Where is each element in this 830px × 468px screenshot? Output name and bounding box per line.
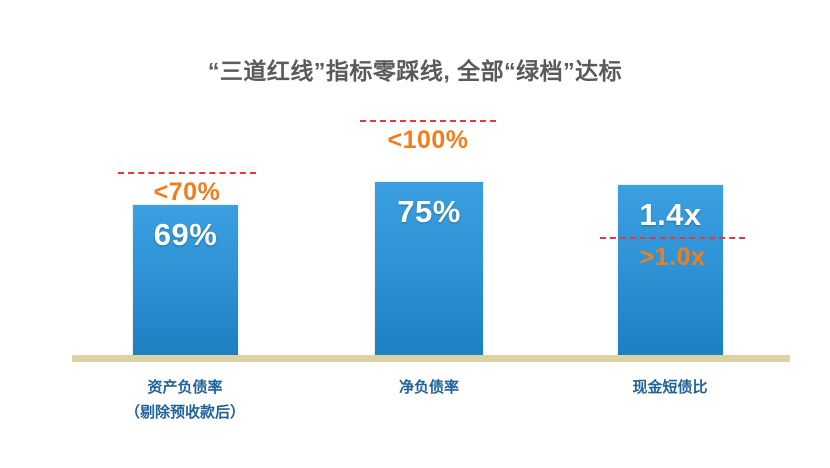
category-label-2-line1: 净负债率 [399,379,459,396]
threshold-label-1: <70% [118,178,256,207]
category-label-1-line1: 资产负债率 [147,379,222,396]
category-label-1-line2: （剔除预收款后） [80,400,290,425]
bar-net-gearing-ratio: 75% [375,182,483,357]
threshold-label-3: >1.0x [600,243,745,272]
bar-asset-liability-ratio: 69% [133,205,238,357]
threshold-label-2: <100% [360,126,496,155]
bar-value-2: 75% [375,194,483,230]
chart-canvas: “三道红线”指标零踩线, 全部“绿档”达标 <70% 69% 资产负债率 （剔除… [0,0,830,468]
chart-title: “三道红线”指标零踩线, 全部“绿档”达标 [0,52,830,86]
chart-baseline [72,355,790,362]
threshold-line-1 [118,172,256,174]
bar-value-1: 69% [133,217,238,253]
threshold-line-2 [360,120,496,122]
category-label-3: 现金短债比 [570,375,770,400]
category-label-2: 净负债率 [329,375,529,400]
bar-value-3: 1.4x [618,197,723,233]
category-label-1: 资产负债率 （剔除预收款后） [80,375,290,425]
category-label-3-line1: 现金短债比 [632,379,707,396]
threshold-line-3 [600,237,745,239]
